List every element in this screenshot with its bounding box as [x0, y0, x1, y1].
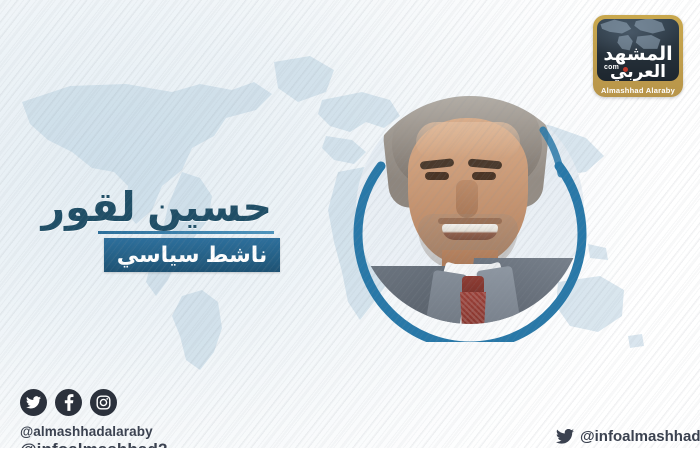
- graphic-card: حسين لقور ناشط سياسي المشهد العربي com: [0, 0, 700, 459]
- bottom-strip: [0, 448, 700, 459]
- logo-dot-accent: [623, 67, 628, 72]
- person-name: حسين لقور: [0, 186, 290, 229]
- channel-logo: المشهد العربي com Almashhad Alaraby: [593, 15, 683, 97]
- twitter-icon[interactable]: [20, 389, 47, 416]
- social-icon-row: [20, 389, 168, 416]
- person-title-badge: ناشط سياسي: [104, 238, 280, 272]
- logo-caption: Almashhad Alaraby: [593, 86, 683, 95]
- name-underline: [98, 231, 274, 234]
- social-handle-primary[interactable]: @almashhadalaraby: [20, 424, 168, 439]
- portrait: [347, 96, 593, 342]
- instagram-icon[interactable]: [90, 389, 117, 416]
- person-title-label: ناشط سياسي: [117, 244, 268, 266]
- footer-twitter-icon: [556, 429, 574, 444]
- portrait-photo: [356, 88, 584, 338]
- footer-twitter-text: @infoalmashhad2: [580, 428, 700, 445]
- logo-com-label: com: [604, 64, 619, 71]
- footer-twitter-handle[interactable]: @infoalmashhad2: [556, 428, 700, 445]
- facebook-icon[interactable]: [55, 389, 82, 416]
